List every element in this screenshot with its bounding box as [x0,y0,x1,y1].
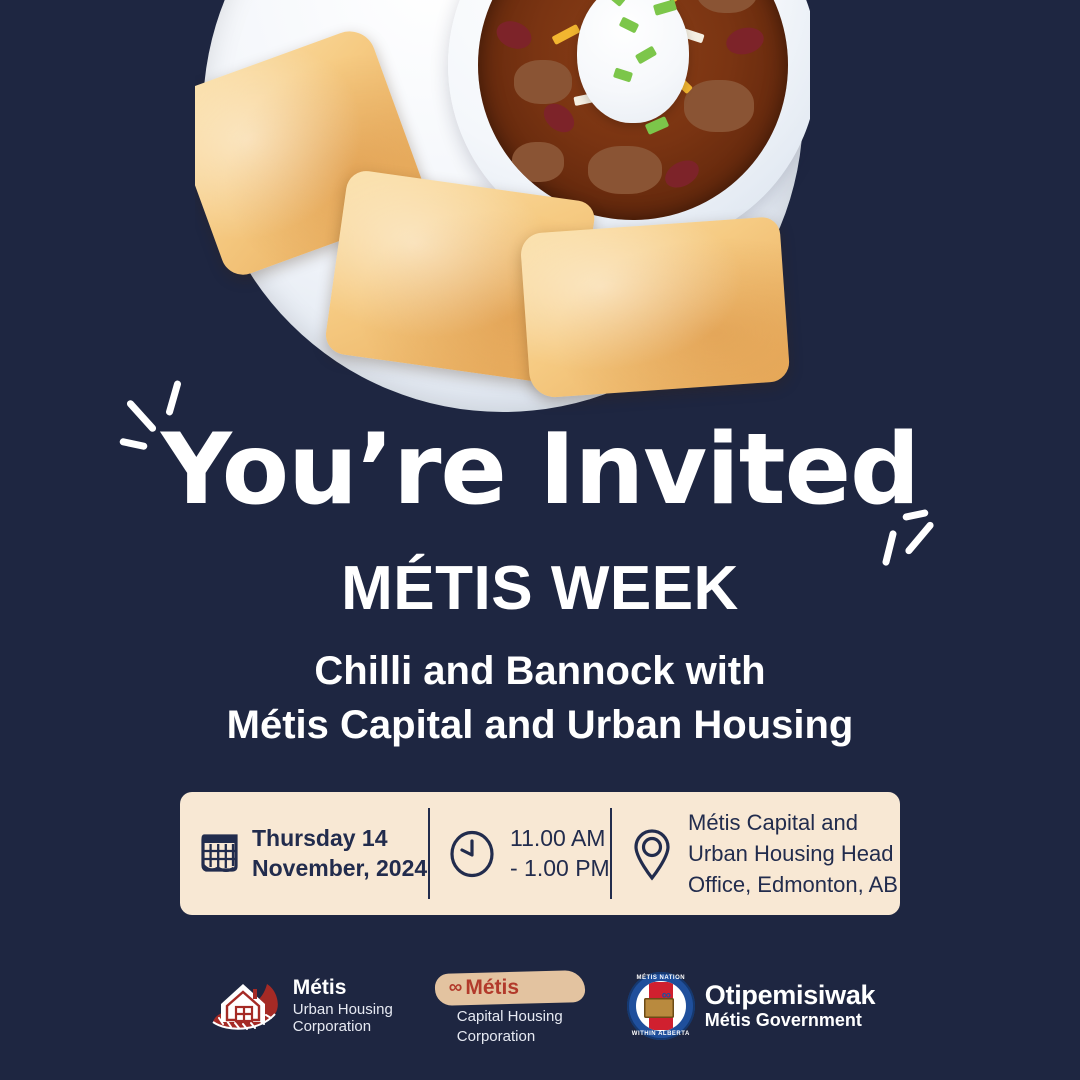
detail-date: Thursday 14 November, 2024 [180,792,428,915]
house-with-sash-icon [205,970,283,1042]
event-details-card: Thursday 14 November, 2024 11.00 AM - 1.… [180,792,900,915]
detail-time-text: 11.00 AM - 1.00 PM [510,824,610,883]
seal-top-text: MÉTIS NATION [627,975,695,981]
seal-bottom-text: WITHIN ALBERTA [627,1031,695,1037]
page-title: You’re Invited [0,421,1080,519]
logo-line-2: Métis Government [705,1011,875,1031]
detail-time: 11.00 AM - 1.00 PM [430,792,610,915]
logo-line-2: Capital Housing [457,1007,563,1027]
logo-row: Métis Urban Housing Corporation ∞ Métis … [0,958,1080,1054]
metis-nation-seal-icon: ∞ MÉTIS NATION WITHIN ALBERTA [627,972,695,1040]
logo-line-1: Otipemisiwak [705,981,875,1011]
bannock-piece [520,216,791,399]
subtitle-line-2: Métis Capital and Urban Housing [0,699,1080,753]
event-subtitle: Chilli and Bannock with Métis Capital an… [0,645,1080,752]
map-pin-icon [630,827,674,881]
subtitle-line-1: Chilli and Bannock with [0,645,1080,699]
hero-image [195,0,810,415]
logo-line-3: Corporation [293,1018,393,1036]
logo-line-1: Métis [465,976,519,1000]
logo-line-1: Métis [293,976,393,1001]
clock-icon [448,830,496,878]
infinity-icon: ∞ [449,977,461,999]
detail-location: Métis Capital and Urban Housing Head Off… [612,792,900,915]
logo-line-3: Corporation [457,1027,563,1047]
metis-capital-housing-corporation-logo: ∞ Métis Capital Housing Corporation [435,968,585,1044]
event-name: MÉTIS WEEK [0,556,1080,621]
otipemisiwak-metis-government-logo: ∞ MÉTIS NATION WITHIN ALBERTA Otipemisiw… [627,972,875,1040]
logo-line-2: Urban Housing [293,1001,393,1019]
sour-cream-dollop [577,0,689,123]
metis-urban-housing-corporation-logo: Métis Urban Housing Corporation [205,970,393,1042]
chili-contents [478,0,788,220]
detail-date-text: Thursday 14 November, 2024 [252,824,427,883]
detail-location-text: Métis Capital and Urban Housing Head Off… [688,807,898,901]
calendar-icon [198,832,240,876]
